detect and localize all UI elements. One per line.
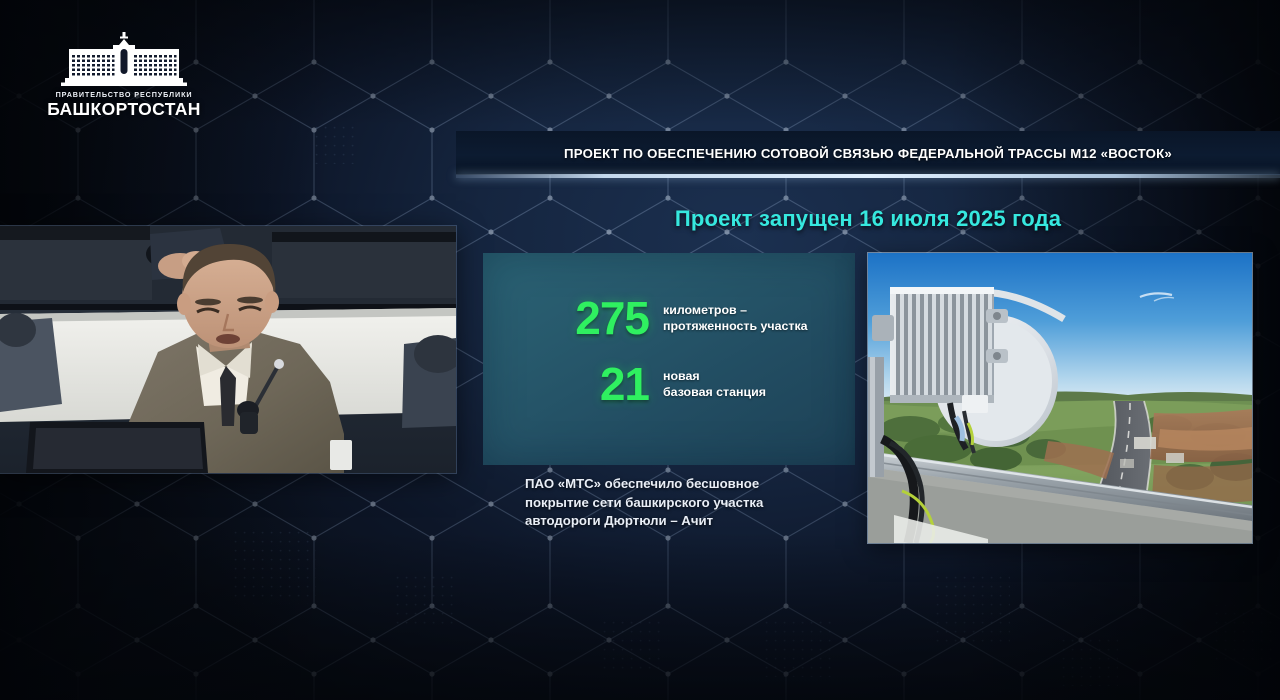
header-divider-line — [456, 174, 1280, 178]
stat-value-21: 21 — [521, 361, 649, 407]
slide-subtitle: Проект запущен 16 июля 2025 года — [456, 206, 1280, 232]
statistics-panel: 275 километров – протяженность участка 2… — [483, 253, 855, 465]
presentation-slide: ПРОЕКТ ПО ОБЕСПЕЧЕНИЮ СОТОВОЙ СВЯЗЬЮ ФЕД… — [456, 131, 1280, 561]
stat-item-stations: 21 новая базовая станция — [521, 361, 766, 407]
slide-header-bar: ПРОЕКТ ПО ОБЕСПЕЧЕНИЮ СОТОВОЙ СВЯЗЬЮ ФЕД… — [456, 131, 1280, 175]
stat-label-line2: базовая станция — [663, 384, 766, 400]
government-logo: ПРАВИТЕЛЬСТВО РЕСПУБЛИКИ БАШКОРТОСТАН — [44, 32, 204, 119]
slide-caption: ПАО «МТС» обеспечило бесшовное покрытие … — [525, 475, 875, 531]
caption-line-2: покрытие сети башкирского участка — [525, 494, 875, 513]
logo-title: БАШКОРТОСТАН — [47, 101, 201, 119]
base-station-photo — [868, 253, 1252, 543]
stat-label-line1: новая — [663, 368, 766, 384]
caption-line-3: автодороги Дюртюли – Ачит — [525, 512, 875, 531]
stat-item-distance: 275 километров – протяженность участка — [521, 295, 808, 341]
stat-label-line2: протяженность участка — [663, 318, 808, 334]
caption-line-1: ПАО «МТС» обеспечило бесшовное — [525, 475, 875, 494]
broadcast-screen: ПРАВИТЕЛЬСТВО РЕСПУБЛИКИ БАШКОРТОСТАН — [0, 0, 1280, 700]
stat-label-distance: километров – протяженность участка — [663, 302, 808, 335]
stat-label-stations: новая базовая станция — [663, 368, 766, 401]
stat-label-line1: километров – — [663, 302, 808, 318]
video-feed-scene — [0, 226, 456, 473]
video-feed[interactable] — [0, 226, 456, 473]
slide-header-title: ПРОЕКТ ПО ОБЕСПЕЧЕНИЮ СОТОВОЙ СВЯЗЬЮ ФЕД… — [564, 146, 1172, 161]
logo-subtitle: ПРАВИТЕЛЬСТВО РЕСПУБЛИКИ — [56, 91, 193, 98]
stat-value-275: 275 — [521, 295, 649, 341]
base-station-photo-scene — [868, 253, 1252, 543]
government-building-icon — [61, 32, 187, 86]
